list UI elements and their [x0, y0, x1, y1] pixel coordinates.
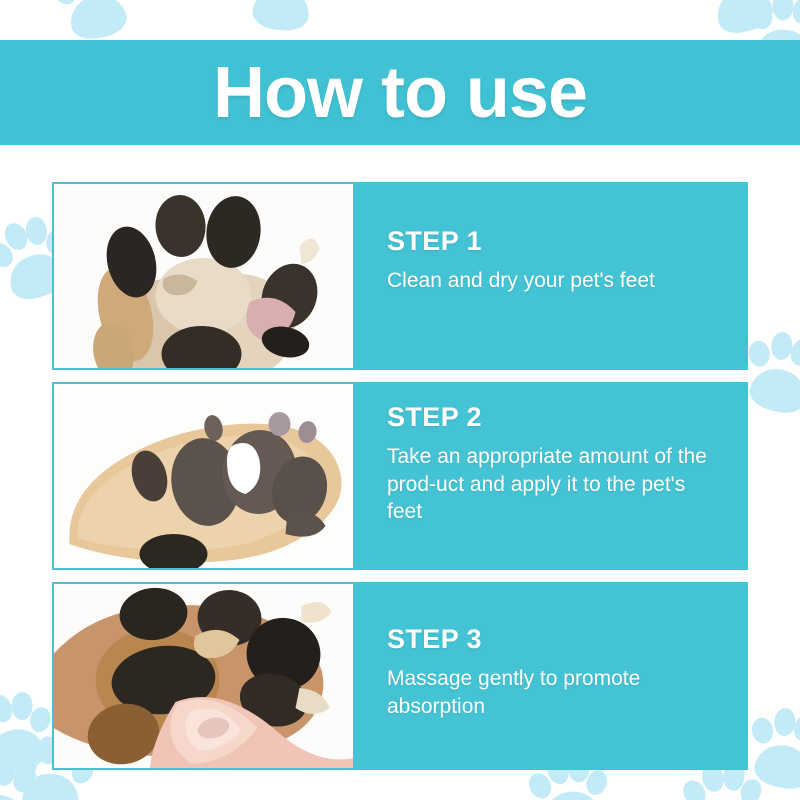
paw-print-icon: [690, 0, 788, 43]
step-2-body: Take an appropriate amount of the prod-u…: [387, 443, 724, 526]
step-1-photo: [52, 182, 355, 370]
dog-paw-with-cream-dollop-illustration: [54, 384, 353, 568]
paw-print-icon: [240, 0, 326, 36]
step-3-text: STEP 3 Massage gently to promote absorpt…: [355, 582, 748, 770]
header-banner: How to use: [0, 40, 800, 145]
step-3-heading: STEP 3: [387, 624, 724, 655]
step-3-body: Massage gently to promote absorption: [387, 665, 724, 720]
dog-paw-pads-closeup-illustration: [54, 184, 353, 368]
step-2-photo: [52, 382, 355, 570]
paw-print-icon: [0, 747, 54, 800]
paw-print-icon: [740, 699, 800, 797]
how-to-use-infographic: How to use STEP 1: [0, 0, 800, 800]
finger-massaging-dog-paw-illustration: [54, 584, 353, 768]
step-3-photo: [52, 582, 355, 770]
step-card-3: STEP 3 Massage gently to promote absorpt…: [52, 582, 748, 770]
step-1-text: STEP 1 Clean and dry your pet's feet: [355, 182, 748, 370]
step-1-heading: STEP 1: [387, 226, 724, 257]
step-2-text: STEP 2 Take an appropriate amount of the…: [355, 382, 748, 570]
page-title: How to use: [213, 57, 587, 129]
paw-print-icon: [0, 684, 59, 780]
step-card-2: STEP 2 Take an appropriate amount of the…: [52, 382, 748, 570]
step-card-1: STEP 1 Clean and dry your pet's feet: [52, 182, 748, 370]
step-2-heading: STEP 2: [387, 402, 724, 433]
step-1-body: Clean and dry your pet's feet: [387, 267, 724, 295]
